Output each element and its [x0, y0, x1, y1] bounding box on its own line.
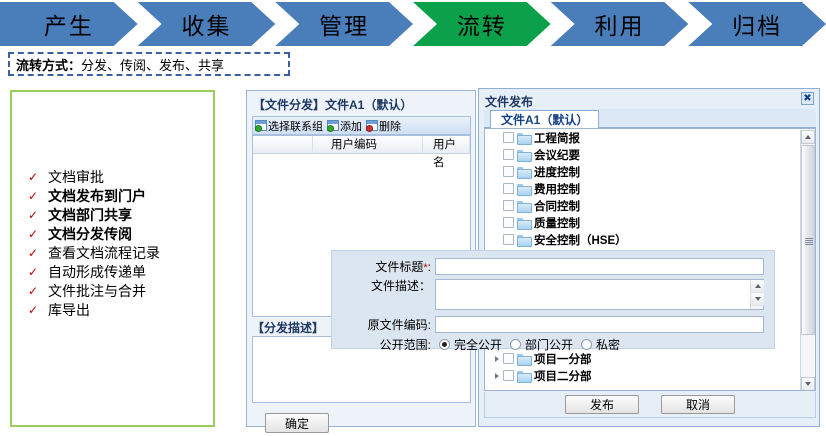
add-badge-icon [255, 125, 262, 132]
delete-icon [366, 120, 378, 131]
process-step-label: 收集 [181, 7, 231, 41]
scope-radio-group: 完全公开部门公开私密 [431, 336, 620, 353]
tree-node[interactable]: 安全控制（HSE） [485, 231, 815, 248]
grid-column-header[interactable] [253, 136, 313, 154]
check-icon: ✓ [28, 245, 48, 262]
tree-checkbox[interactable] [503, 183, 514, 194]
process-step-6: 归档 [688, 2, 826, 46]
scope-radio-option[interactable]: 部门公开 [510, 336, 573, 353]
desc-scroll-up-icon[interactable] [751, 280, 764, 293]
flow-mode-value: 分发、传阅、发布、共享 [81, 55, 224, 74]
publish-button[interactable]: 发布 [565, 395, 639, 414]
process-step-4: 流转 [413, 2, 551, 46]
file-desc-colon: ： [419, 279, 431, 293]
original-code-colon: : [428, 318, 431, 332]
remove-badge-icon [366, 125, 373, 132]
tree-node-label: 合同控制 [534, 198, 580, 214]
tree-checkbox[interactable] [503, 166, 514, 177]
checklist-item-label: 自动形成传递单 [48, 264, 146, 281]
process-step-label: 产生 [44, 7, 94, 41]
checklist-item: ✓文档发布到门户 [28, 188, 218, 205]
process-step-label: 归档 [732, 7, 782, 41]
checklist-item-label: 库导出 [48, 302, 90, 319]
check-icon: ✓ [28, 302, 48, 319]
tree-node-label: 工程简报 [534, 130, 580, 146]
field-row-title: 文件标题*: [332, 258, 776, 275]
flow-mode-label: 流转方式： [16, 55, 81, 74]
file-title-label: 文件标题*: [332, 258, 431, 275]
process-step-5: 利用 [551, 2, 689, 46]
check-icon: ✓ [28, 188, 48, 205]
toolbar-delete[interactable]: 删除 [366, 118, 401, 134]
tree-node-label: 质量控制 [534, 215, 580, 231]
file-distribution-title: 【文件分发】文件A1（默认） [253, 96, 412, 113]
checklist-item-label: 查看文档流程记录 [48, 245, 160, 262]
toolbar-select-group[interactable]: 选择联系组 [255, 118, 323, 134]
original-code-label-text: 原文件编码 [368, 318, 428, 332]
scope-radio-label: 私密 [596, 336, 620, 353]
checklist-item: ✓文件批注与合并 [28, 283, 218, 300]
folder-icon [517, 353, 530, 364]
scope-label: 公开范围: [332, 336, 431, 353]
check-icon: ✓ [28, 264, 48, 281]
check-icon: ✓ [28, 283, 48, 300]
confirm-button[interactable]: 确定 [265, 413, 329, 433]
checklist-item-label: 文档审批 [48, 169, 104, 186]
scope-radio-label: 部门公开 [525, 336, 573, 353]
radio-unselected-icon[interactable] [581, 339, 592, 350]
publish-form-dialog: 文件标题*: 文件描述： 原文件编码: 公开范围: 完全公开部门公开私密 [331, 250, 775, 349]
process-step-label: 管理 [319, 7, 369, 41]
process-step-label: 流转 [457, 7, 507, 41]
tree-node-label: 进度控制 [534, 164, 580, 180]
check-icon: ✓ [28, 207, 48, 224]
tree-node[interactable]: 质量控制 [485, 214, 815, 231]
publish-tabstrip: 文件A1（默认） [484, 109, 816, 128]
check-icon: ✓ [28, 169, 48, 186]
tree-checkbox[interactable] [503, 353, 514, 364]
file-desc-textarea[interactable] [435, 279, 764, 310]
tree-checkbox[interactable] [503, 149, 514, 160]
toolbar-button-label: 选择联系组 [268, 118, 323, 134]
feature-checklist: ✓文档审批✓文档发布到门户✓文档部门共享✓文档分发传阅✓查看文档流程记录✓自动形… [28, 169, 218, 321]
process-step-bar: 产生收集管理流转利用归档 [0, 2, 826, 46]
scroll-up-icon[interactable] [801, 130, 815, 144]
toolbar-button-label: 删除 [379, 118, 401, 134]
close-icon[interactable]: ✖ [801, 92, 814, 105]
feature-checklist-panel: ✓文档审批✓文档发布到门户✓文档部门共享✓文档分发传阅✓查看文档流程记录✓自动形… [10, 90, 215, 427]
field-row-scope: 公开范围: 完全公开部门公开私密 [332, 336, 776, 353]
add-badge-icon [327, 125, 334, 132]
checklist-item-label: 文档部门共享 [48, 207, 132, 224]
folder-icon [517, 183, 530, 194]
folder-icon [517, 149, 530, 160]
distribution-desc-title: 【分发描述】 [252, 319, 324, 336]
field-row-code: 原文件编码: [332, 316, 776, 333]
tree-node[interactable]: 合同控制 [485, 197, 815, 214]
checklist-item-label: 文档分发传阅 [48, 226, 132, 243]
original-code-label: 原文件编码: [332, 316, 431, 333]
tree-node[interactable]: 工程简报 [485, 129, 815, 146]
tree-node[interactable]: 项目二分部 [485, 367, 815, 384]
grid-column-header[interactable] [459, 136, 470, 154]
select-group-icon [255, 120, 267, 131]
checklist-item-label: 文档发布到门户 [48, 188, 146, 205]
process-step-1: 产生 [0, 2, 138, 46]
file-desc-label: 文件描述： [332, 279, 431, 294]
process-step-label: 利用 [594, 7, 644, 41]
desc-scrollbar[interactable] [750, 280, 763, 309]
grid-column-header[interactable]: 用户编码 [313, 136, 423, 154]
desc-scroll-down-icon[interactable] [751, 293, 764, 306]
scrollbar-grip-icon [805, 238, 813, 245]
file-desc-label-text: 文件描述 [371, 279, 419, 293]
file-title-colon: : [428, 260, 431, 274]
tree-node[interactable]: 费用控制 [485, 180, 815, 197]
folder-icon [517, 370, 530, 381]
toolbar-button-label: 添加 [340, 118, 362, 134]
tree-node[interactable]: 会议纪要 [485, 146, 815, 163]
check-icon: ✓ [28, 226, 48, 243]
checklist-item: ✓文档审批 [28, 169, 218, 186]
user-grid-header: 用户编码用户名 [253, 136, 470, 154]
tree-node-label: 会议纪要 [534, 147, 580, 163]
tree-checkbox[interactable] [503, 234, 514, 245]
file-title-input[interactable] [435, 258, 764, 275]
checklist-item: ✓文档分发传阅 [28, 226, 218, 243]
process-step-2: 收集 [138, 2, 276, 46]
tree-checkbox[interactable] [503, 132, 514, 143]
publish-footer: 发布 取消 [484, 392, 816, 418]
process-step-3: 管理 [275, 2, 413, 46]
radio-unselected-icon[interactable] [510, 339, 521, 350]
tree-checkbox[interactable] [503, 217, 514, 228]
scrollbar-thumb[interactable] [801, 145, 815, 335]
grid-column-header[interactable]: 用户名 [423, 136, 459, 154]
expand-arrow-icon[interactable] [491, 373, 503, 379]
cancel-button[interactable]: 取消 [661, 395, 735, 414]
scope-radio-label: 完全公开 [454, 336, 502, 353]
tree-checkbox[interactable] [503, 370, 514, 381]
field-row-desc: 文件描述： [332, 279, 776, 310]
expand-arrow-icon[interactable] [491, 356, 503, 362]
checklist-item: ✓文档部门共享 [28, 207, 218, 224]
folder-icon [517, 234, 530, 245]
folder-icon [517, 200, 530, 211]
folder-icon [517, 217, 530, 228]
add-icon [327, 120, 339, 131]
scope-label-text: 公开范围 [380, 338, 428, 352]
checklist-item: ✓查看文档流程记录 [28, 245, 218, 262]
file-distribution-toolbar: 选择联系组添加删除 [252, 116, 471, 135]
radio-selected-icon[interactable] [439, 339, 450, 350]
tree-node[interactable]: 进度控制 [485, 163, 815, 180]
tree-checkbox[interactable] [503, 200, 514, 211]
original-code-input[interactable] [435, 316, 764, 333]
toolbar-add[interactable]: 添加 [327, 118, 362, 134]
tree-node-label: 安全控制（HSE） [534, 232, 627, 248]
file-title-label-text: 文件标题 [375, 260, 423, 274]
scope-radio-option[interactable]: 完全公开 [439, 336, 502, 353]
tree-scrollbar[interactable] [800, 130, 814, 391]
tree-node-label: 项目二分部 [534, 368, 592, 384]
checklist-item-label: 文件批注与合并 [48, 283, 146, 300]
scroll-down-icon[interactable] [801, 377, 815, 391]
checklist-item: ✓自动形成传递单 [28, 264, 218, 281]
file-publish-title: 文件发布 [485, 93, 533, 110]
tab-file-a1[interactable]: 文件A1（默认） [490, 110, 599, 128]
flow-mode-note: 流转方式： 分发、传阅、发布、共享 [8, 52, 290, 76]
tree-node-label: 费用控制 [534, 181, 580, 197]
folder-icon [517, 132, 530, 143]
scope-radio-option[interactable]: 私密 [581, 336, 620, 353]
folder-icon [517, 166, 530, 177]
checklist-item: ✓库导出 [28, 302, 218, 319]
